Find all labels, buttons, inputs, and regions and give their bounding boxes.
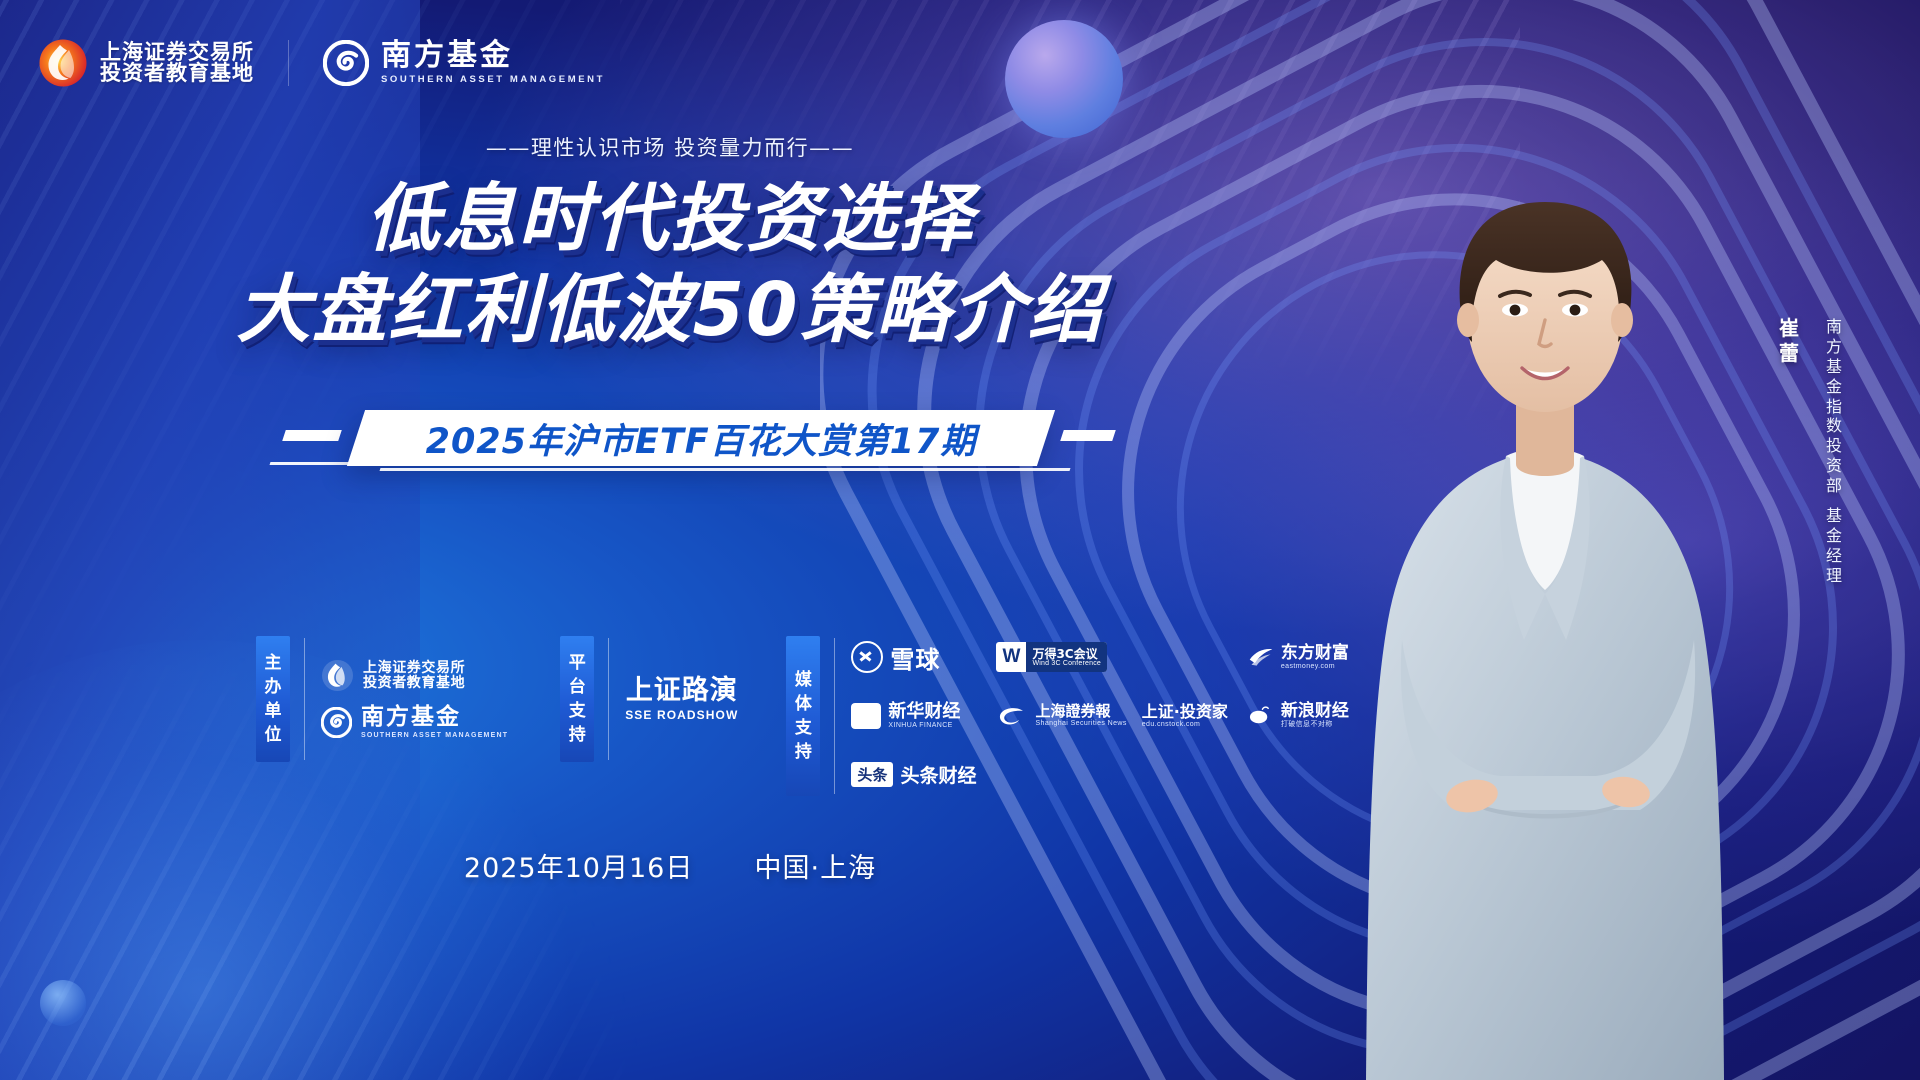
speaker-title-char-12: 经: [1826, 547, 1842, 566]
organizer-label-char-3: 位: [265, 727, 282, 744]
ribbon-dash-left: [282, 430, 342, 441]
media-logo-toutiao-finance: 头条 头条财经: [851, 758, 976, 792]
logo-divider: [288, 40, 289, 86]
event-date: 2025年10月16日: [464, 853, 693, 884]
ribbon-underline: [380, 468, 1071, 471]
xinhua-icon: [851, 703, 881, 729]
speaker-title-char-11: 金: [1826, 527, 1842, 546]
media-logo-xueqiu: 雪球: [851, 640, 976, 674]
media-label-char-1: 体: [795, 696, 812, 713]
wind-w-glyph: W: [996, 646, 1026, 668]
organizer-southern-cn: 南方基金: [361, 706, 508, 729]
header-logo-bar: 上海证券交易所 投资者教育基地 南方基金 SOUTHERN ASSET MANA…: [38, 38, 605, 88]
subtitle-ribbon: 2025年沪市ETF百花大赏第17期: [272, 410, 1072, 480]
event-location: 中国·上海: [755, 853, 877, 884]
sse-flame-icon-small: [321, 659, 354, 692]
speaker-title-char-3: 金: [1826, 378, 1842, 397]
speaker-title-char-4: 指: [1826, 398, 1842, 417]
speaker-title-char-7: 资: [1826, 457, 1842, 476]
platform-rule: [608, 638, 609, 760]
sponsor-organizer-block: 主 办 单 位 上海证券交易所 投资者教育基地: [256, 636, 508, 762]
organizer-label-char-2: 单: [265, 703, 282, 720]
organizer-label-char-0: 主: [265, 655, 282, 672]
xueqiu-label: 雪球: [890, 640, 940, 675]
sse-edu-line1: 上海证券交易所: [100, 42, 254, 63]
event-tagline: ——理性认识市场 投资量力而行——: [0, 132, 1340, 162]
southern-en-name: SOUTHERN ASSET MANAGEMENT: [381, 75, 605, 85]
wind-text-block: 万得3C会议 Wind 3C Conference: [1026, 642, 1107, 672]
event-datetime-line: 2025年10月16日 中国·上海: [0, 846, 1340, 885]
speaker-panel: 崔 蕾 南 方 基 金 指 数 投 资 部 基 金 经 理: [1160, 0, 1920, 1080]
ribbon-dash-right: [1060, 430, 1116, 441]
platform-label-char-3: 持: [569, 727, 586, 744]
speaker-title-char-2: 基: [1826, 358, 1842, 377]
title-line-1: 低息时代投资选择: [0, 178, 1340, 261]
platform-vertical-label: 平 台 支 持: [560, 636, 594, 762]
organizer-sse-line2: 投资者教育基地: [363, 676, 465, 691]
speaker-title-char-10: 基: [1826, 507, 1842, 526]
platform-label-char-0: 平: [569, 655, 586, 672]
organizer-logo-southern: 南方基金 SOUTHERN ASSET MANAGEMENT: [321, 706, 508, 739]
speaker-title-char-0: 南: [1826, 318, 1842, 337]
organizer-southern-en: SOUTHERN ASSET MANAGEMENT: [361, 732, 508, 739]
organizer-logos: 上海证券交易所 投资者教育基地 南方基金 SOUTHERN ASSET MANA…: [321, 636, 508, 762]
logo-sse-investor-education: 上海证券交易所 投资者教育基地: [38, 38, 254, 88]
southern-swirl-icon-small: [321, 707, 352, 738]
platform-label-char-2: 支: [569, 703, 586, 720]
wind-label: 万得3C会议: [1032, 648, 1101, 661]
media-vertical-label: 媒 体 支 持: [786, 636, 820, 796]
sponsor-platform-block: 平 台 支 持 上证路演 SSE ROADSHOW: [560, 636, 738, 762]
speaker-name-vertical: 崔 蕾: [1776, 318, 1802, 364]
media-rule: [834, 638, 835, 794]
speaker-name-char-0: 崔: [1779, 318, 1799, 340]
speaker-photo: [1310, 120, 1780, 1080]
sse-roadshow-en: SSE ROADSHOW: [625, 708, 738, 722]
sse-edu-line2: 投资者教育基地: [100, 63, 254, 84]
title-line-2: 大盘红利低波50策略介绍: [0, 269, 1340, 352]
media-label-char-0: 媒: [795, 672, 812, 689]
ribbon-text: 2025年沪市ETF百花大赏第17期: [356, 410, 1046, 466]
southern-cn-name: 南方基金: [381, 41, 605, 71]
xueqiu-icon: [851, 641, 883, 673]
organizer-rule: [304, 638, 305, 760]
shanghai-securities-news-icon: [996, 704, 1028, 728]
speaker-title-char-6: 投: [1826, 437, 1842, 456]
speaker-title-char-13: 理: [1826, 567, 1842, 586]
toutiao-icon: 头条: [851, 762, 893, 787]
sse-flame-icon: [38, 38, 88, 88]
platform-label-char-1: 台: [569, 679, 586, 696]
xinhua-label: 新华财经: [888, 703, 960, 722]
wind-sub: Wind 3C Conference: [1032, 660, 1101, 667]
xinhua-sub: XINHUA FINANCE: [888, 722, 960, 729]
banner-canvas: 上海证券交易所 投资者教育基地 南方基金 SOUTHERN ASSET MANA…: [0, 0, 1920, 1080]
wind-icon: W 万得3C会议 Wind 3C Conference: [996, 642, 1107, 672]
decorative-sphere: [1005, 20, 1123, 138]
organizer-sse-line1: 上海证券交易所: [363, 661, 465, 676]
speaker-title-char-5: 数: [1826, 417, 1842, 436]
logo-southern-asset-management: 南方基金 SOUTHERN ASSET MANAGEMENT: [323, 40, 605, 86]
organizer-label-char-1: 办: [265, 679, 282, 696]
sss-label: 上海證券報: [1035, 704, 1126, 720]
speaker-title-char-8: 部: [1826, 477, 1842, 496]
sss-sub: Shanghai Securities News: [1035, 720, 1126, 727]
media-label-char-3: 持: [795, 744, 812, 761]
platform-logos: 上证路演 SSE ROADSHOW: [625, 636, 738, 762]
media-label-char-2: 支: [795, 720, 812, 737]
speaker-title-vertical: 南 方 基 金 指 数 投 资 部 基 金 经 理: [1822, 318, 1846, 585]
southern-swirl-icon: [323, 40, 369, 86]
media-logo-xinhua-finance: 新华财经 XINHUA FINANCE: [851, 699, 976, 733]
organizer-vertical-label: 主 办 单 位: [256, 636, 290, 762]
speaker-name-char-1: 蕾: [1779, 343, 1799, 365]
platform-logo-sse-roadshow: 上证路演 SSE ROADSHOW: [625, 677, 738, 722]
toutiao-label: 头条财经: [900, 761, 976, 788]
sse-roadshow-cn: 上证路演: [626, 677, 738, 704]
speaker-title-char-1: 方: [1826, 338, 1842, 357]
organizer-logo-sse-edu: 上海证券交易所 投资者教育基地: [321, 659, 508, 692]
main-title-block: 低息时代投资选择 大盘红利低波50策略介绍: [0, 178, 1340, 352]
decorative-dot: [40, 980, 86, 1026]
